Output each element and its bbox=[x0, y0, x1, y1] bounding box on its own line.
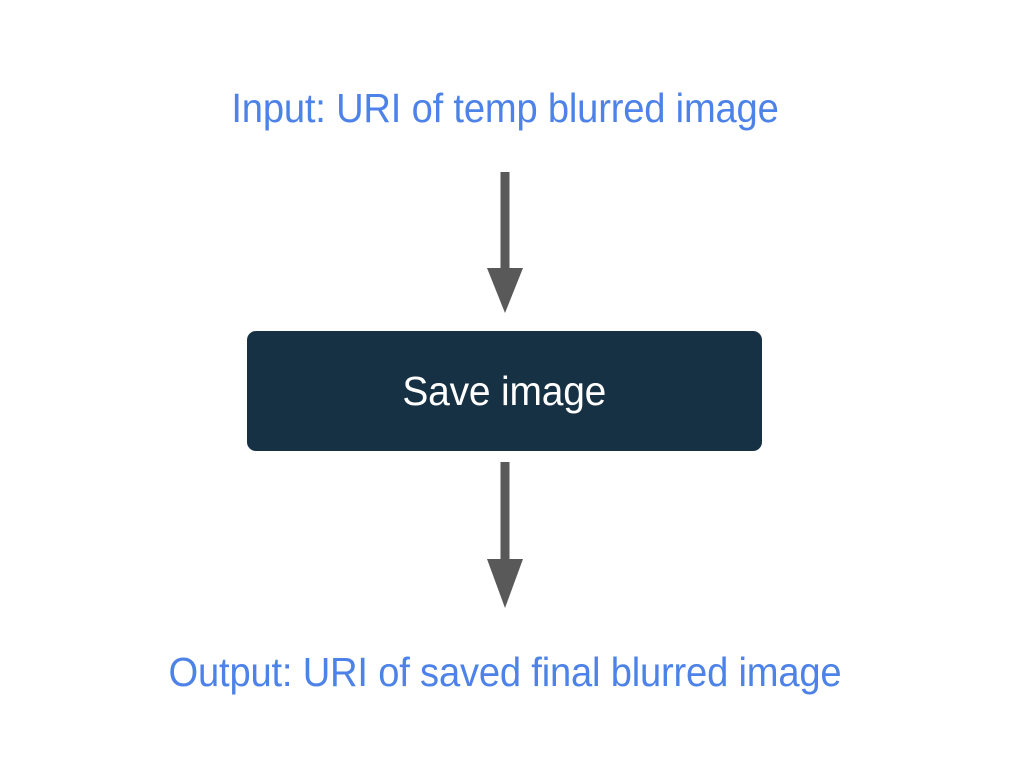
process-box-save-image[interactable]: Save image bbox=[247, 331, 762, 451]
output-label: Output: URI of saved final blurred image bbox=[35, 652, 974, 693]
arrow-head-bottom bbox=[487, 559, 523, 608]
input-label: Input: URI of temp blurred image bbox=[35, 88, 974, 129]
arrow-shaft-bottom bbox=[501, 462, 510, 563]
flow-diagram: Input: URI of temp blurred image Save im… bbox=[0, 0, 1010, 760]
process-box-label: Save image bbox=[403, 371, 607, 412]
arrow-head-top bbox=[487, 268, 523, 313]
arrow-shaft-top bbox=[501, 172, 510, 272]
